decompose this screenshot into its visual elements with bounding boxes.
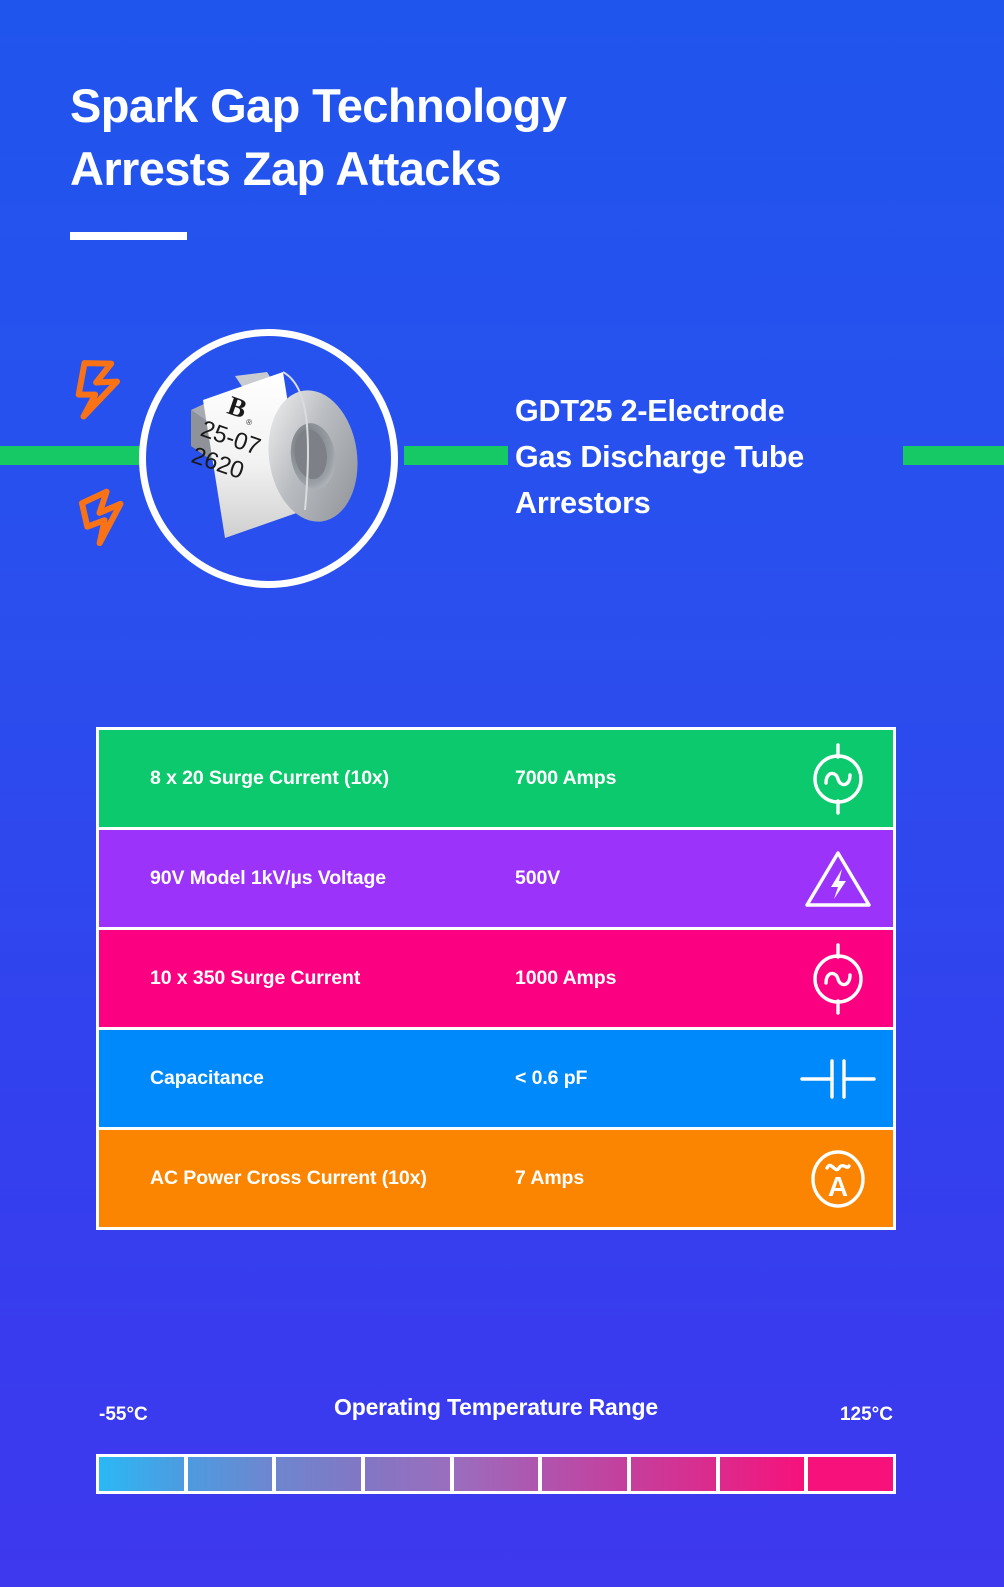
spec-label: 90V Model 1kV/µs Voltage [150, 867, 515, 890]
temperature-title: Operating Temperature Range [96, 1394, 896, 1421]
temperature-max-label: 125°C [840, 1404, 893, 1426]
table-row: Capacitance < 0.6 pF [99, 1030, 893, 1127]
temperature-segment [542, 1457, 627, 1491]
spec-label: Capacitance [150, 1067, 515, 1090]
spec-value: 7 Amps [515, 1167, 783, 1190]
gas-discharge-tube-product-image: B ® 25-07 2620 [155, 350, 385, 570]
lightning-bolt-icon [78, 486, 134, 546]
specifications-table: 8 x 20 Surge Current (10x) 7000 Amps 90V… [96, 727, 896, 1230]
spec-label: AC Power Cross Current (10x) [150, 1167, 515, 1190]
table-row: AC Power Cross Current (10x) 7 Amps A [99, 1130, 893, 1227]
page-header: Spark Gap Technology Arrests Zap Attacks [70, 74, 890, 240]
green-accent-line-middle [404, 446, 508, 465]
svg-text:A: A [828, 1171, 848, 1202]
high-voltage-warning-icon [783, 847, 893, 911]
spec-label: 8 x 20 Surge Current (10x) [150, 767, 515, 790]
temperature-segment [276, 1457, 361, 1491]
spec-value: < 0.6 pF [515, 1067, 783, 1090]
spec-value: 7000 Amps [515, 767, 783, 790]
table-row: 10 x 350 Surge Current 1000 Amps [99, 930, 893, 1027]
table-row: 8 x 20 Surge Current (10x) 7000 Amps [99, 730, 893, 827]
temperature-segment [720, 1457, 805, 1491]
temperature-segment [365, 1457, 450, 1491]
temperature-gradient-bar [96, 1454, 896, 1494]
temperature-segment [454, 1457, 539, 1491]
hero-product-heading: GDT25 2-Electrode Gas Discharge Tube Arr… [515, 388, 945, 526]
capacitor-icon [783, 1057, 893, 1101]
ac-source-icon [783, 743, 893, 815]
temperature-segment [99, 1457, 184, 1491]
ac-ampere-icon: A [783, 1146, 893, 1212]
temperature-header: -55°C Operating Temperature Range 125°C [96, 1392, 896, 1430]
title-underline-rule [70, 232, 187, 240]
page-title: Spark Gap Technology Arrests Zap Attacks [70, 74, 890, 200]
temperature-segment [631, 1457, 716, 1491]
ac-source-icon [783, 943, 893, 1015]
table-row: 90V Model 1kV/µs Voltage 500V [99, 830, 893, 927]
temperature-segment [188, 1457, 273, 1491]
green-accent-line-left [0, 446, 142, 465]
lightning-bolt-icon [70, 358, 132, 426]
spec-value: 1000 Amps [515, 967, 783, 990]
spec-label: 10 x 350 Surge Current [150, 967, 515, 990]
spec-value: 500V [515, 867, 783, 890]
operating-temperature-section: -55°C Operating Temperature Range 125°C [96, 1392, 896, 1494]
temperature-segment [808, 1457, 893, 1491]
